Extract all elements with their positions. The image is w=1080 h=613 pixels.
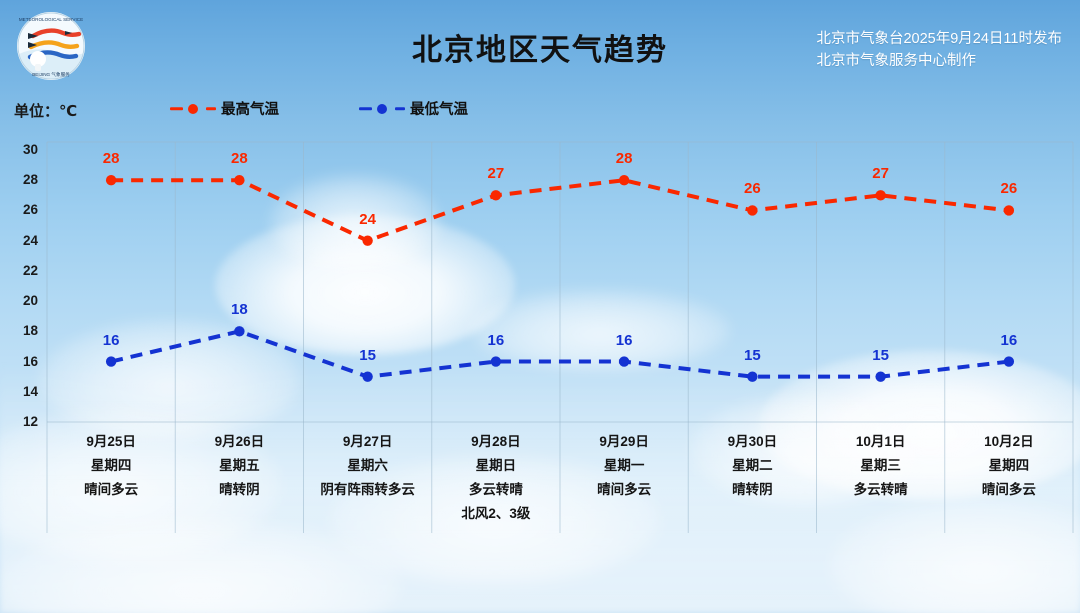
y-axis-tick-label: 30	[4, 142, 38, 157]
day-date: 9月29日	[560, 430, 688, 454]
data-point-value-label: 16	[89, 332, 133, 349]
day-weather: 晴间多云	[945, 478, 1073, 502]
data-point-value-label: 15	[346, 347, 390, 364]
data-point-value-label: 28	[217, 150, 261, 167]
data-point-marker[interactable]	[234, 326, 244, 336]
y-axis-tick-label: 20	[4, 293, 38, 308]
x-axis-day-column[interactable]: 9月30日星期二晴转阴	[688, 430, 816, 502]
y-axis-tick-label: 28	[4, 172, 38, 187]
day-date: 9月30日	[688, 430, 816, 454]
x-axis-day-column[interactable]: 9月29日星期一晴间多云	[560, 430, 688, 502]
x-axis-day-column[interactable]: 10月1日星期三多云转晴	[817, 430, 945, 502]
data-point-value-label: 26	[730, 180, 774, 197]
day-weather: 晴转阴	[175, 478, 303, 502]
data-point-marker[interactable]	[106, 356, 116, 366]
legend-item-max-temp[interactable]: 最高气温	[170, 98, 279, 119]
data-point-marker[interactable]	[491, 356, 501, 366]
data-point-value-label: 26	[987, 180, 1031, 197]
data-point-value-label: 27	[474, 165, 518, 182]
day-weekday: 星期日	[432, 454, 560, 478]
day-weekday: 星期六	[304, 454, 432, 478]
legend-swatch-min-temp	[359, 103, 405, 115]
day-weather: 晴间多云	[47, 478, 175, 502]
y-axis-tick-label: 26	[4, 202, 38, 217]
data-point-marker[interactable]	[491, 190, 501, 200]
y-axis-tick-label: 18	[4, 323, 38, 338]
legend-item-min-temp[interactable]: 最低气温	[359, 98, 468, 119]
day-weather: 晴间多云	[560, 478, 688, 502]
y-axis-tick-label: 12	[4, 414, 38, 429]
x-axis-day-column[interactable]: 9月28日星期日多云转晴北风2、3级	[432, 430, 560, 526]
x-axis-day-column[interactable]: 10月2日星期四晴间多云	[945, 430, 1073, 502]
day-date: 9月26日	[175, 430, 303, 454]
day-weather: 晴转阴	[688, 478, 816, 502]
data-point-marker[interactable]	[619, 356, 629, 366]
day-weekday: 星期三	[817, 454, 945, 478]
y-axis-tick-label: 16	[4, 354, 38, 369]
legend-label-max-temp: 最高气温	[221, 98, 279, 119]
day-wind: 北风2、3级	[432, 502, 560, 526]
data-point-marker[interactable]	[234, 175, 244, 185]
legend-label-min-temp: 最低气温	[410, 98, 468, 119]
y-axis-tick-label: 22	[4, 263, 38, 278]
x-axis-day-column[interactable]: 9月25日星期四晴间多云	[47, 430, 175, 502]
day-weekday: 星期四	[945, 454, 1073, 478]
data-point-value-label: 27	[859, 165, 903, 182]
data-point-value-label: 15	[730, 347, 774, 364]
data-point-marker[interactable]	[106, 175, 116, 185]
legend-swatch-max-temp	[170, 103, 216, 115]
svg-text:BEIJING 气象服务: BEIJING 气象服务	[32, 71, 70, 78]
day-date: 9月27日	[304, 430, 432, 454]
data-point-value-label: 18	[217, 301, 261, 318]
data-point-value-label: 28	[89, 150, 133, 167]
issuer-line-2: 北京市气象服务中心制作	[816, 50, 1062, 72]
day-weekday: 星期二	[688, 454, 816, 478]
y-axis-tick-label: 14	[4, 384, 38, 399]
day-date: 10月2日	[945, 430, 1073, 454]
data-point-marker[interactable]	[362, 371, 372, 381]
day-date: 9月28日	[432, 430, 560, 454]
x-axis-day-column[interactable]: 9月27日星期六阴有阵雨转多云	[304, 430, 432, 502]
data-point-marker[interactable]	[747, 371, 757, 381]
day-weekday: 星期四	[47, 454, 175, 478]
data-point-value-label: 16	[602, 332, 646, 349]
data-point-marker[interactable]	[1004, 205, 1014, 215]
data-point-value-label: 16	[987, 332, 1031, 349]
x-axis-day-column[interactable]: 9月26日星期五晴转阴	[175, 430, 303, 502]
data-point-value-label: 16	[474, 332, 518, 349]
data-point-marker[interactable]	[875, 190, 885, 200]
data-point-value-label: 15	[859, 347, 903, 364]
day-date: 10月1日	[817, 430, 945, 454]
data-point-value-label: 28	[602, 150, 646, 167]
data-point-marker[interactable]	[747, 205, 757, 215]
day-weekday: 星期五	[175, 454, 303, 478]
day-weather: 多云转晴	[432, 478, 560, 502]
issuer-line-1: 北京市气象台2025年9月24日11时发布	[816, 28, 1062, 50]
day-weekday: 星期一	[560, 454, 688, 478]
day-weather: 阴有阵雨转多云	[304, 478, 432, 502]
svg-text:METEOROLOGICAL SERVICE: METEOROLOGICAL SERVICE	[19, 17, 83, 22]
unit-label: 单位：℃	[14, 100, 77, 121]
x-axis-day-columns: 9月25日星期四晴间多云9月26日星期五晴转阴9月27日星期六阴有阵雨转多云9月…	[0, 430, 1080, 540]
data-point-marker[interactable]	[619, 175, 629, 185]
day-weather: 多云转晴	[817, 478, 945, 502]
chart-legend: 最高气温 最低气温	[170, 98, 468, 119]
data-point-marker[interactable]	[875, 371, 885, 381]
y-axis-tick-label: 24	[4, 233, 38, 248]
data-point-marker[interactable]	[1004, 356, 1014, 366]
data-point-value-label: 24	[346, 211, 390, 228]
day-date: 9月25日	[47, 430, 175, 454]
issuer-info: 北京市气象台2025年9月24日11时发布 北京市气象服务中心制作	[816, 28, 1062, 73]
data-point-marker[interactable]	[362, 235, 372, 245]
